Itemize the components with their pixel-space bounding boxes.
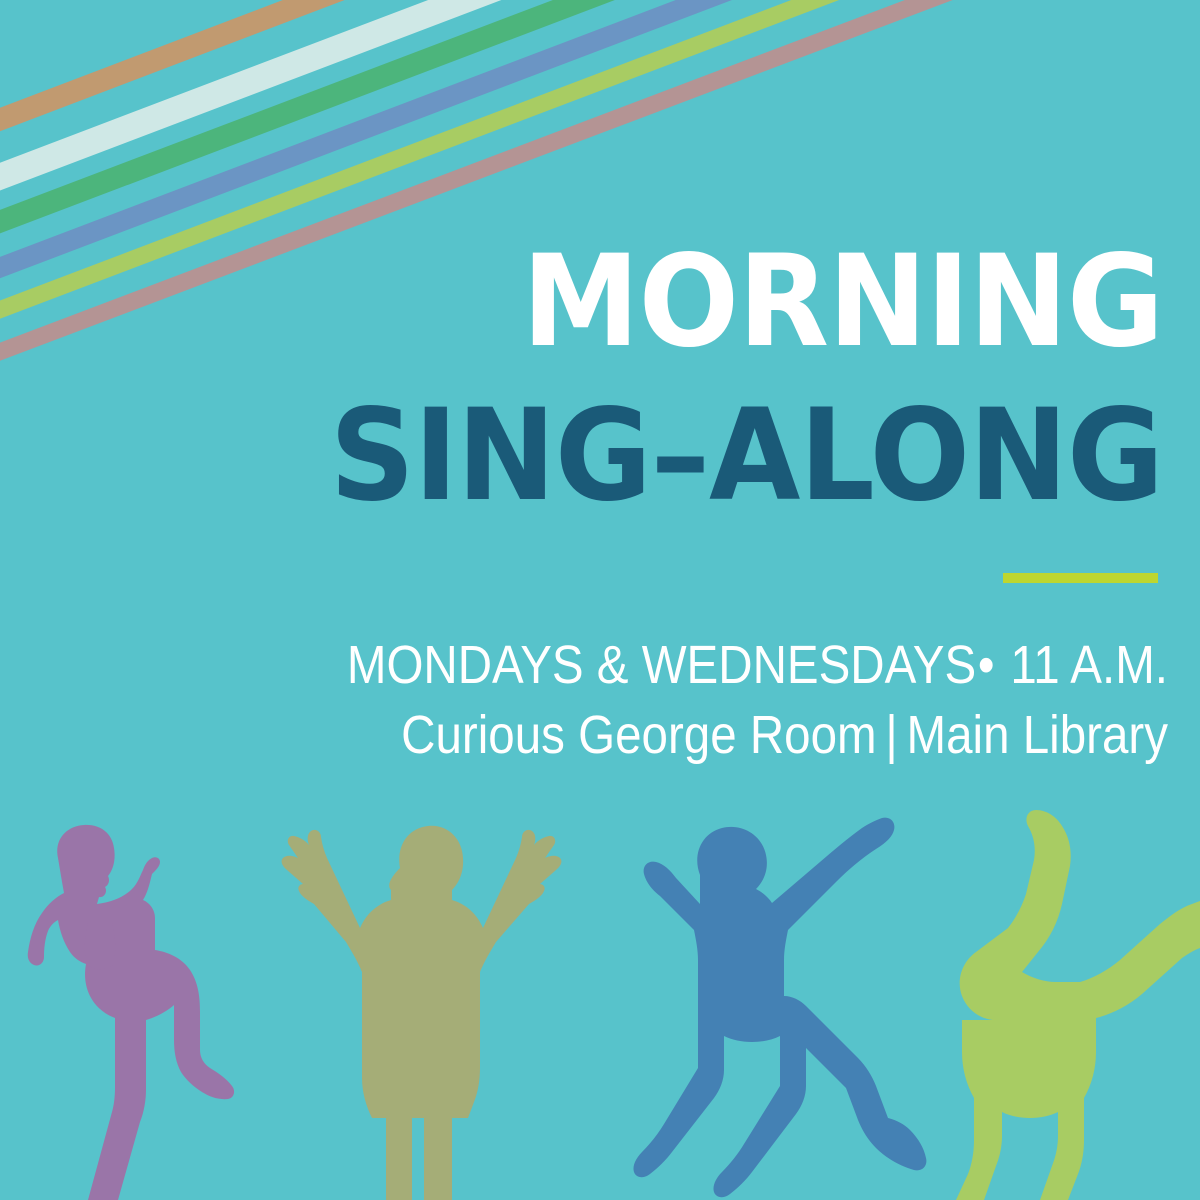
schedule-days: MONDAYS & WEDNESDAYS [347, 635, 976, 695]
event-details-block: MONDAYS & WEDNESDAYS•11 A.M. Curious Geo… [0, 630, 1168, 770]
bullet-separator-icon: • [976, 630, 1010, 700]
child-leaping-silhouette [633, 818, 926, 1198]
stripe-mint-icon [0, 0, 820, 207]
schedule-time: 11 A.M. [1010, 635, 1168, 695]
location-line: Curious George Room|Main Library [140, 700, 1168, 770]
child-arms-raised-silhouette [282, 826, 562, 1200]
schedule-line: MONDAYS & WEDNESDAYS•11 A.M. [140, 630, 1168, 700]
page-title-line-two: SING–ALONG [81, 392, 1163, 519]
child-kneeling-silhouette [28, 825, 234, 1200]
location-building: Main Library [907, 705, 1168, 765]
accent-rule [1003, 573, 1158, 583]
location-room: Curious George Room [401, 705, 876, 765]
poster-canvas: MORNING SING–ALONG MONDAYS & WEDNESDAYS•… [0, 0, 1200, 1200]
page-title-line-one: MORNING [81, 238, 1163, 365]
child-cartwheel-silhouette [956, 810, 1200, 1200]
stripe-green-icon [0, 0, 900, 252]
stripe-tan-icon [0, 0, 760, 150]
children-silhouettes [0, 800, 1200, 1200]
pipe-separator-icon: | [877, 700, 907, 770]
